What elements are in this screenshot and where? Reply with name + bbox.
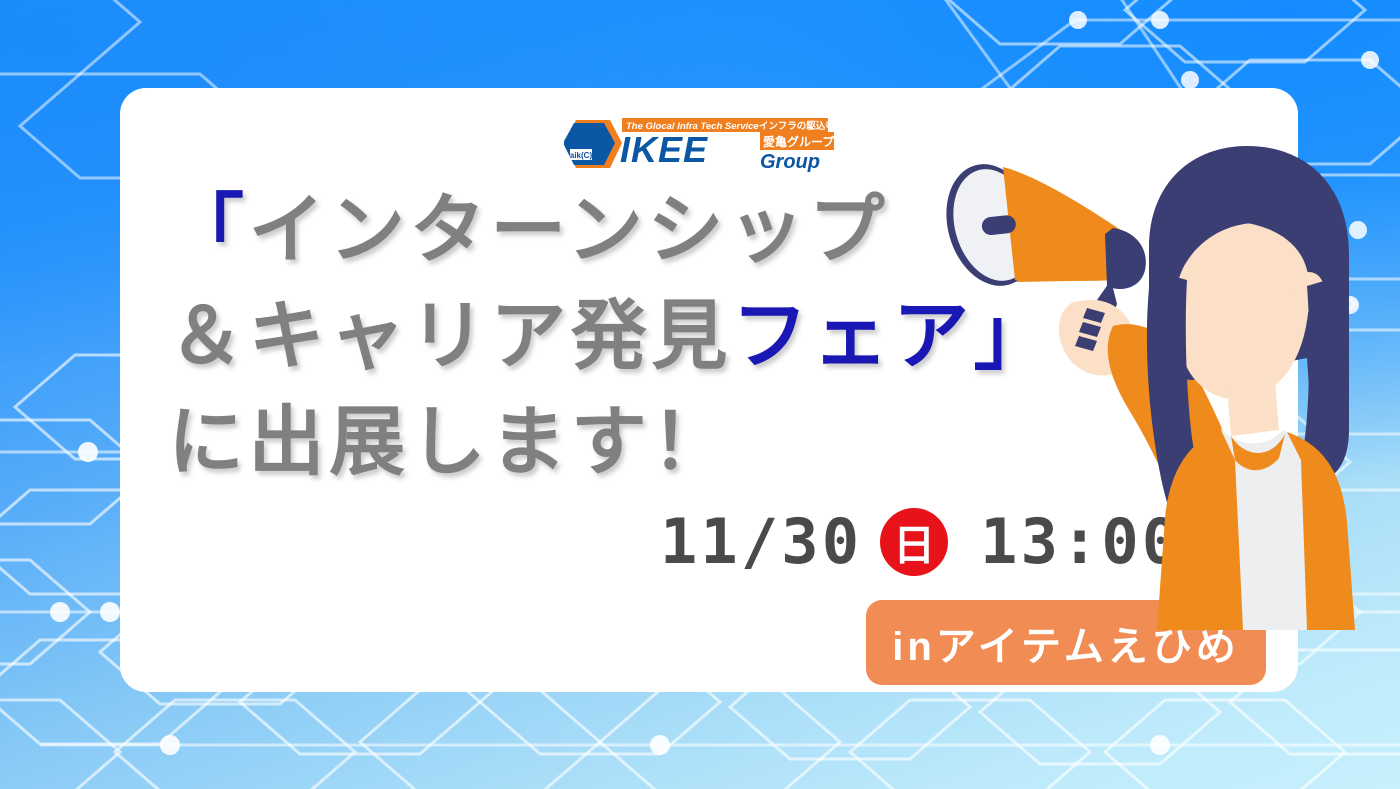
venue-badge: inアイテムえひめ bbox=[866, 600, 1266, 685]
weekday-badge: 日 bbox=[880, 508, 948, 576]
logo-group-jp: 愛亀グループ bbox=[763, 134, 835, 149]
headline-line-3: に出展します！ bbox=[168, 390, 1028, 496]
headline-line-2: ＆キャリア発見フェア」 bbox=[168, 284, 1028, 390]
event-time: 13:00 bbox=[980, 511, 1182, 573]
venue-label: inアイテムえひめ bbox=[892, 614, 1240, 672]
headline-line-1-text: インターンシップ bbox=[249, 188, 890, 273]
headline-line-2-accent: フェア」 bbox=[732, 294, 1054, 379]
event-date: 11/30 bbox=[660, 511, 862, 573]
event-banner: aik(C) The Glocal Infra Tech Service インフ… bbox=[0, 0, 1400, 789]
time-tilde: 〜 bbox=[1184, 514, 1243, 570]
headline-line-1: 「インターンシップ bbox=[168, 178, 1028, 284]
ikee-group-logo: aik(C) The Glocal Infra Tech Service インフ… bbox=[564, 116, 844, 174]
headline-line-2-text: ＆キャリア発見 bbox=[168, 294, 732, 379]
open-bracket: 「 bbox=[168, 188, 249, 273]
logo-brand-text: IKEE bbox=[620, 129, 708, 170]
headline-block: 「インターンシップ ＆キャリア発見フェア」 に出展します！ bbox=[168, 178, 1028, 496]
logo-tagline-jp: インフラの駆込寺 bbox=[759, 120, 835, 132]
logo-sub-brand: Group bbox=[760, 151, 820, 173]
logo-mark-label: aik(C) bbox=[570, 151, 593, 160]
event-datetime: 11/30 日 13:00 〜 bbox=[660, 508, 1243, 576]
